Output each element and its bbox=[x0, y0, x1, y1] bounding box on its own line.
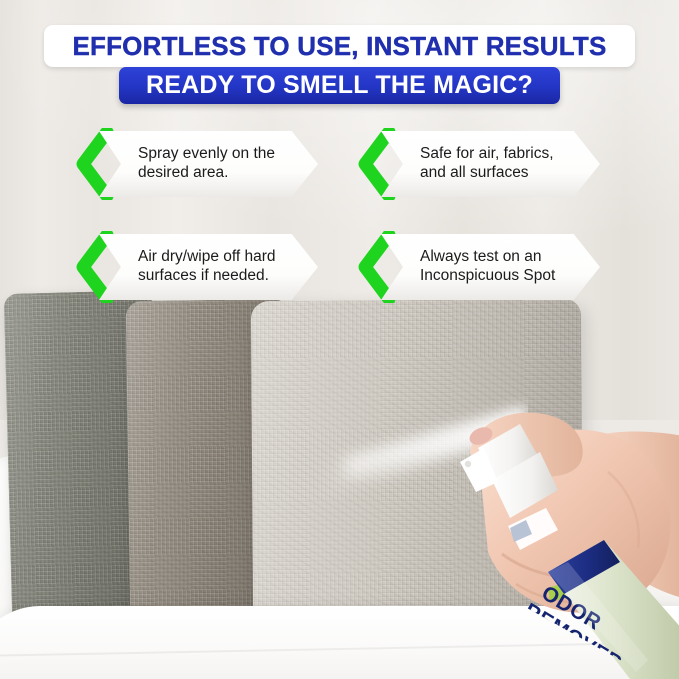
bottle-claim-3: BECAUSE IT WORKS! bbox=[489, 670, 561, 679]
callout-ribbon: Spray evenly on the desired area. bbox=[99, 131, 318, 197]
callout-ribbon: Air dry/wipe off hard surfaces if needed… bbox=[99, 234, 318, 300]
hand-with-spray-bottle: ODOR REMOVER UNSCENTED ODOR ELIMINATOR F… bbox=[398, 340, 679, 679]
callout-test-spot: Always test on an Inconspicuous Spot bbox=[355, 231, 600, 303]
callout-text: Safe for air, fabrics, and all surfaces bbox=[420, 145, 574, 183]
headline-primary: EFFORTLESS TO USE, INSTANT RESULTS bbox=[44, 25, 635, 67]
headline-primary-text: EFFORTLESS TO USE, INSTANT RESULTS bbox=[72, 31, 606, 62]
callout-spray-evenly: Spray evenly on the desired area. bbox=[73, 128, 318, 200]
callout-air-dry: Air dry/wipe off hard surfaces if needed… bbox=[73, 231, 318, 303]
callout-text: Spray evenly on the desired area. bbox=[138, 145, 292, 183]
callout-text: Air dry/wipe off hard surfaces if needed… bbox=[138, 248, 292, 286]
headline-secondary-text: READY TO SMELL THE MAGIC? bbox=[146, 71, 533, 100]
bottle-claim-2: USED IN HOSPITALS & HOUSEHOLDS WORLDWIDE bbox=[488, 659, 618, 679]
bottle-claim-1: ODOR ELIMINATOR FOR CARPET, FABRIC bbox=[497, 647, 614, 679]
headline-secondary-banner: READY TO SMELL THE MAGIC? bbox=[119, 67, 560, 104]
callout-ribbon: Always test on an Inconspicuous Spot bbox=[381, 234, 600, 300]
callout-ribbon: Safe for air, fabrics, and all surfaces bbox=[381, 131, 600, 197]
callout-text: Always test on an Inconspicuous Spot bbox=[420, 248, 574, 286]
callout-safe-surfaces: Safe for air, fabrics, and all surfaces bbox=[355, 128, 600, 200]
product-infographic: ODOR REMOVER UNSCENTED ODOR ELIMINATOR F… bbox=[0, 0, 679, 679]
